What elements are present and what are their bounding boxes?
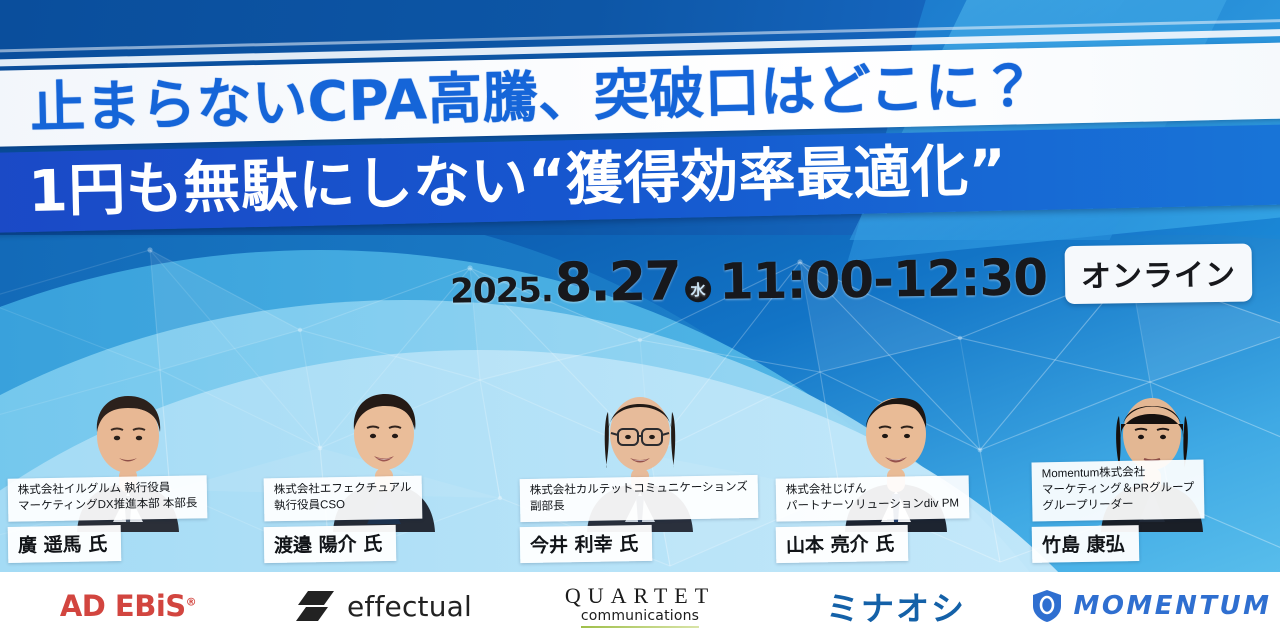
speaker-card: 株式会社エフェクチュアル 執行役員CSO 渡邉 陽介 氏 xyxy=(256,320,512,572)
logo-momentum: MOMENTUM xyxy=(1024,572,1280,640)
logo-ad-ebis: AD EBiS® xyxy=(0,572,256,640)
speaker-department: 執行役員CSO xyxy=(274,497,412,515)
speaker-name: 竹島 康弘 xyxy=(1042,533,1125,556)
sponsor-logo-bar: AD EBiS® effectual QUARTET communication… xyxy=(0,572,1280,640)
speaker-name: 山本 亮介 氏 xyxy=(786,533,895,557)
momentum-text: MOMENTUM xyxy=(1073,591,1271,621)
speaker-name-box: 竹島 康弘 xyxy=(1032,525,1139,563)
quartet-wordmark: QUARTET communications xyxy=(565,585,715,628)
speaker-credit: 株式会社カルテットコミュニケーションズ 副部長 xyxy=(520,475,759,522)
speaker-credit: 株式会社じげん パートナーソリューションdiv PM xyxy=(776,476,970,522)
speaker-credit: 株式会社イルグルム 執行役員 マーケティングDX推進本部 本部長 xyxy=(8,476,208,522)
speaker-company: 株式会社エフェクチュアル xyxy=(274,481,412,499)
online-badge: オンライン xyxy=(1065,243,1253,304)
speaker-department: 副部長 xyxy=(530,496,748,516)
speaker-name: 渡邉 陽介 氏 xyxy=(274,533,383,557)
schedule-month-day: 8.27 xyxy=(554,249,680,314)
schedule-time: 11:00-12:30 xyxy=(719,248,1048,311)
schedule-day-of-week: 水 xyxy=(685,276,711,302)
speaker-department: マーケティング＆PRグループ xyxy=(1042,481,1195,500)
registered-icon: ® xyxy=(186,595,197,608)
schedule-text: 2025 . 8.27 水 11:00-12:30 xyxy=(450,244,1048,315)
quartet-subtext: communications xyxy=(581,609,699,623)
title-block: 止まらないCPA高騰、突破口はどこに？ 1円も無駄にしない“獲得効率最適化” xyxy=(0,46,1280,226)
ad-ebis-wordmark: AD EBiS® xyxy=(60,589,196,623)
title-line-1-text: 止まらないCPA高騰、突破口はどこに？ xyxy=(30,59,1037,136)
speaker-name-box: 廣 遥馬 氏 xyxy=(8,525,122,563)
speaker-card: 株式会社イルグルム 執行役員 マーケティングDX推進本部 本部長 廣 遥馬 氏 xyxy=(0,320,256,572)
shield-zero-icon xyxy=(1032,589,1062,623)
minaoshi-wordmark: ミナオシ xyxy=(826,582,966,630)
schedule-year: 2025 xyxy=(450,270,541,311)
speaker-card: Momentum株式会社 マーケティング＆PRグループ グループリーダー 竹島 … xyxy=(1024,320,1280,572)
speaker-name: 廣 遥馬 氏 xyxy=(18,533,108,557)
speaker-card: 株式会社じげん パートナーソリューションdiv PM 山本 亮介 氏 xyxy=(768,320,1024,572)
schedule-separator: . xyxy=(541,270,554,310)
speaker-department-2: グループリーダー xyxy=(1042,497,1195,516)
effectual-parallelogram-icon xyxy=(296,589,336,623)
logo-quartet: QUARTET communications xyxy=(512,572,768,640)
effectual-text: effectual xyxy=(347,590,472,623)
speaker-name: 今井 利幸 氏 xyxy=(530,533,639,557)
title-line-2-text: 1円も無駄にしない“獲得効率最適化” xyxy=(28,142,1008,220)
quartet-underline xyxy=(581,626,699,628)
logo-minaoshi: ミナオシ xyxy=(768,572,1024,640)
speaker-credit: Momentum株式会社 マーケティング＆PRグループ グループリーダー xyxy=(1032,460,1205,522)
logo-effectual: effectual xyxy=(256,572,512,640)
momentum-wordmark: MOMENTUM xyxy=(1032,589,1271,623)
speaker-credit: 株式会社エフェクチュアル 執行役員CSO xyxy=(264,476,422,521)
speaker-department: マーケティングDX推進本部 本部長 xyxy=(18,497,197,516)
effectual-wordmark: effectual xyxy=(296,589,472,623)
speaker-card: 株式会社カルテットコミュニケーションズ 副部長 今井 利幸 氏 xyxy=(512,320,768,572)
webinar-banner: 止まらないCPA高騰、突破口はどこに？ 1円も無駄にしない“獲得効率最適化” 2… xyxy=(0,0,1280,640)
speaker-name-box: 山本 亮介 氏 xyxy=(776,525,909,563)
speaker-row: 株式会社イルグルム 執行役員 マーケティングDX推進本部 本部長 廣 遥馬 氏 xyxy=(0,320,1280,572)
quartet-text: QUARTET xyxy=(565,585,715,607)
speaker-department: パートナーソリューションdiv PM xyxy=(786,497,959,516)
speaker-name-box: 今井 利幸 氏 xyxy=(520,525,653,563)
speaker-name-box: 渡邉 陽介 氏 xyxy=(264,525,397,563)
ad-ebis-text: AD EBiS xyxy=(60,589,186,623)
